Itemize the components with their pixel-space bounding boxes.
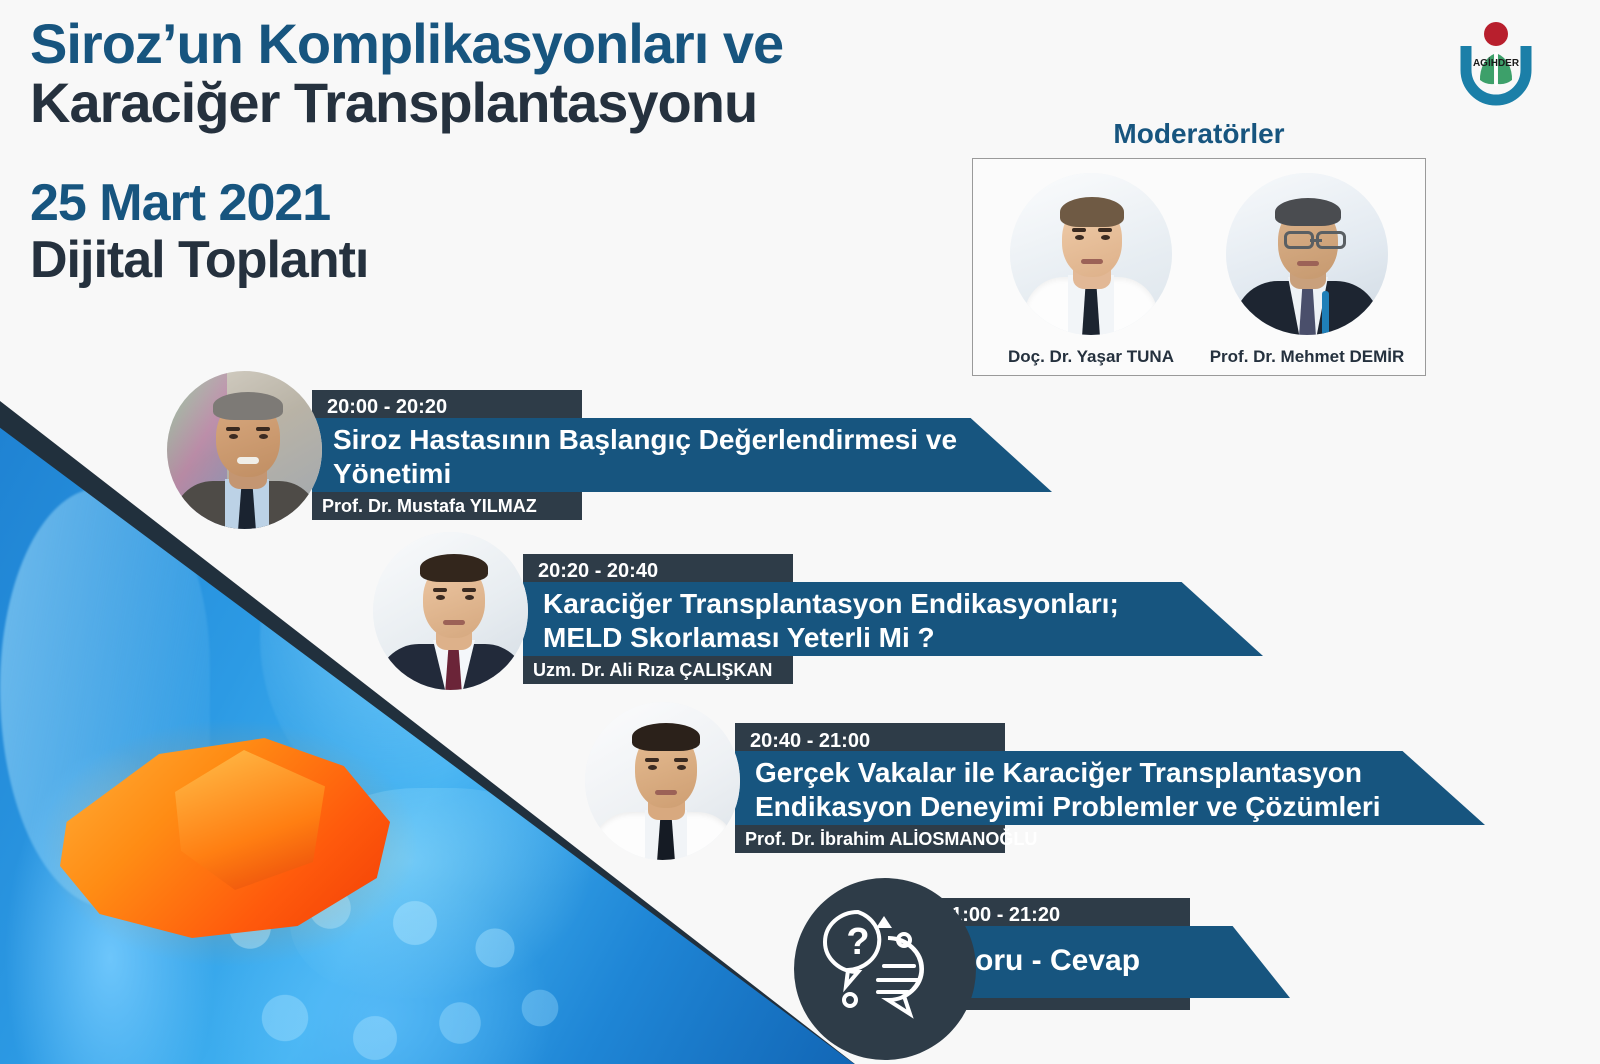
session-3-title-line-1: Gerçek Vakalar ile Karaciğer Transplanta… [755, 756, 1475, 790]
logo-text: AGİHDER [1473, 56, 1520, 69]
session-4-title-line-1: Soru - Cevap [955, 943, 1285, 980]
session-2-speaker: Uzm. Dr. Ali Rıza ÇALIŞKAN [533, 660, 772, 681]
liver-lobe [175, 750, 325, 890]
moderators-heading: Moderatörler [972, 118, 1426, 150]
moderator-name: Doç. Dr. Yaşar TUNA [991, 347, 1191, 367]
session-3-speaker-avatar [585, 702, 740, 860]
session-4-title: Soru - Cevap [955, 943, 1285, 980]
agihder-logo: AGİHDER [1452, 18, 1540, 106]
session-2-title-line-2: MELD Skorlaması Yeterli Mi ? [543, 621, 1243, 655]
intestines-organ [190, 868, 620, 1064]
session-2-title-line-1: Karaciğer Transplantasyon Endikasyonları… [543, 587, 1243, 621]
session-3-speaker: Prof. Dr. İbrahim ALİOSMANOĞLU [745, 829, 1037, 850]
event-date: 25 Mart 2021 [30, 175, 950, 232]
session-1-speaker: Prof. Dr. Mustafa YILMAZ [322, 496, 537, 517]
moderator-name: Prof. Dr. Mehmet DEMİR [1207, 347, 1407, 367]
question-answer-icon-badge: ? [794, 878, 976, 1060]
session-2-time: 20:20 - 20:40 [538, 560, 658, 583]
moderators-section: Moderatörler [972, 118, 1426, 376]
session-2-title: Karaciğer Transplantasyon Endikasyonları… [543, 587, 1243, 655]
session-2-speaker-avatar [373, 532, 528, 690]
session-3-title: Gerçek Vakalar ile Karaciğer Transplanta… [755, 756, 1475, 824]
event-subtitle: Dijital Toplantı [30, 232, 950, 289]
moderator-card: Doç. Dr. Yaşar TUNA [991, 173, 1191, 367]
liver-organ [60, 738, 390, 938]
moderator-photo-yasar-tuna [1010, 173, 1172, 335]
liver-glow [40, 718, 420, 968]
title-line-1: Siroz’un Komplikasyonları ve [30, 14, 950, 73]
page-title: Siroz’un Komplikasyonları ve Karaciğer T… [30, 14, 950, 289]
session-1-title-line-1: Siroz Hastasının Başlangıç Değerlendirme… [333, 423, 1033, 457]
ribcage-left [0, 488, 210, 908]
speech-bubbles-question-icon: ? [822, 904, 948, 1034]
session-1-time: 20:00 - 20:20 [327, 396, 447, 419]
session-1-title: Siroz Hastasının Başlangıç Değerlendirme… [333, 423, 1033, 491]
moderators-box: Doç. Dr. Yaşar TUNA [972, 158, 1426, 376]
title-line-2: Karaciğer Transplantasyonu [30, 73, 950, 132]
session-3-title-line-2: Endikasyon Deneyimi Problemler ve Çözüml… [755, 790, 1475, 824]
session-1-title-line-2: Yönetimi [333, 457, 1033, 491]
moderator-photo-mehmet-demir [1226, 173, 1388, 335]
session-1-speaker-avatar [167, 371, 322, 529]
session-3-time: 20:40 - 21:00 [750, 730, 870, 753]
svg-text:?: ? [846, 921, 869, 963]
moderator-card: Prof. Dr. Mehmet DEMİR [1207, 173, 1407, 367]
stomach-organ [290, 788, 590, 998]
agihder-logo-icon: AGİHDER [1452, 18, 1540, 106]
conference-poster: Siroz’un Komplikasyonları ve Karaciğer T… [0, 0, 1600, 1064]
